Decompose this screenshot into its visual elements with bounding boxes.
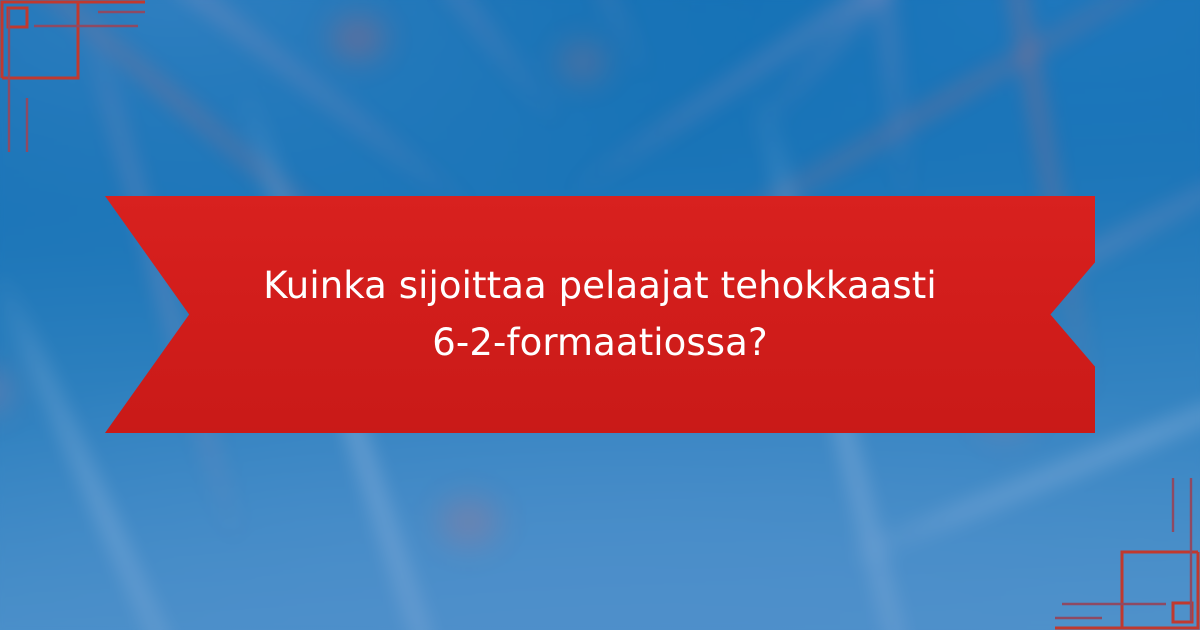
headline-banner: Kuinka sijoittaa pelaajat tehokkaasti 6-… [105,196,1095,433]
headline-banner-content: Kuinka sijoittaa pelaajat tehokkaasti 6-… [214,258,986,370]
share-card: Kuinka sijoittaa pelaajat tehokkaasti 6-… [0,0,1200,630]
page-title: Kuinka sijoittaa pelaajat tehokkaasti 6-… [214,258,986,370]
